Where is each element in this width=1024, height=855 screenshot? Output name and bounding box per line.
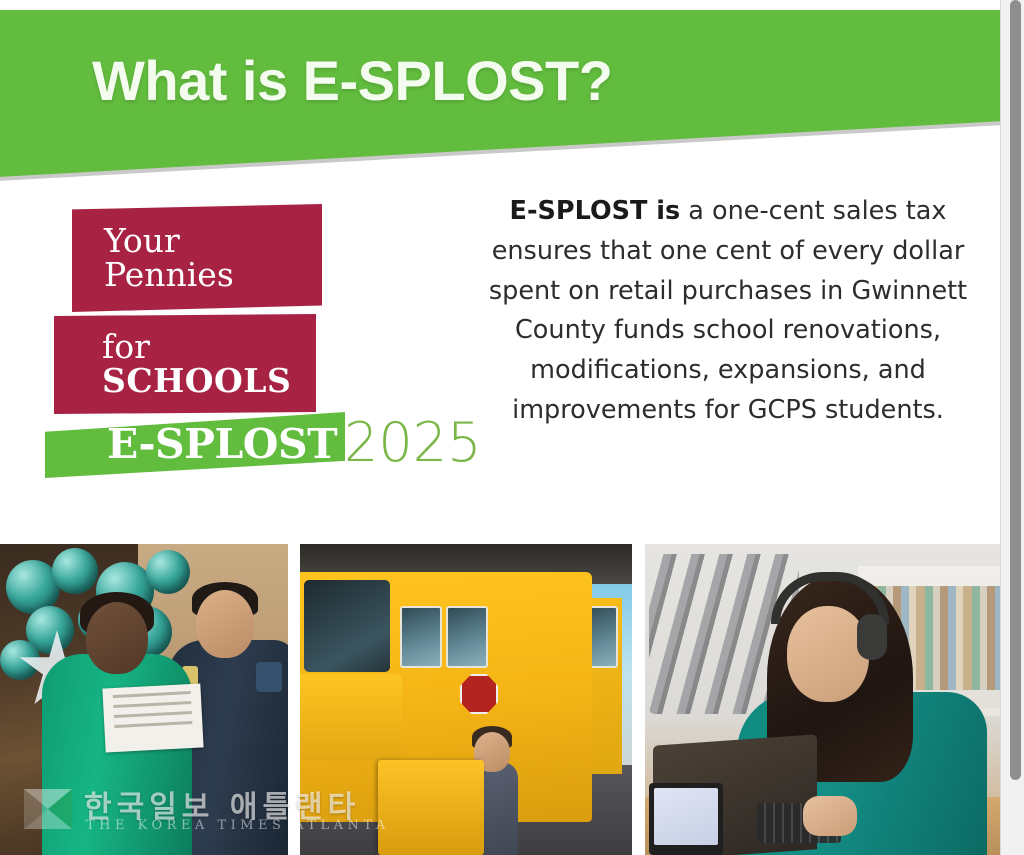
vertical-scrollbar-thumb[interactable] xyxy=(1010,0,1021,780)
screenshot-root: What is E-SPLOST? Your Pennies for SCHOO… xyxy=(0,0,1024,855)
bus-window xyxy=(400,606,442,668)
logo-year: 2025 xyxy=(344,416,481,470)
bus-window xyxy=(446,606,488,668)
logo-line-for: for xyxy=(102,330,316,364)
photo-school-bus xyxy=(300,544,632,855)
description-paragraph: E-SPLOST is a one-cent sales tax ensures… xyxy=(478,192,978,431)
esplost-logo: Your Pennies for SCHOOLS E-SPLOST 2025 xyxy=(44,198,484,488)
description-lead: E-SPLOST is xyxy=(510,196,681,226)
logo-banner-esplost: E-SPLOST xyxy=(45,412,345,478)
certificate xyxy=(102,683,203,752)
officer-shoulder-patch xyxy=(256,662,282,692)
description-rest: a one-cent sales tax ensures that one ce… xyxy=(489,196,967,425)
bus-hood xyxy=(300,674,402,760)
balloon xyxy=(52,548,98,594)
bus-windshield xyxy=(304,580,390,672)
photo-graduation xyxy=(0,544,288,855)
balloon xyxy=(146,550,190,594)
logo-banner-your-pennies: Your Pennies xyxy=(72,204,322,312)
stop-sign-icon xyxy=(460,674,498,714)
logo-line-esplost: E-SPLOST xyxy=(107,424,345,465)
headphone-earcup-icon xyxy=(857,614,887,660)
logo-line-schools: SCHOOLS xyxy=(102,364,316,398)
page-title: What is E-SPLOST? xyxy=(92,52,612,111)
bus-open-door-panel xyxy=(378,760,484,855)
logo-banner-for-schools: for SCHOOLS xyxy=(54,314,316,414)
logo-line-pennies: Pennies xyxy=(104,258,322,292)
police-officer-head xyxy=(196,590,254,658)
student-hand xyxy=(803,796,857,836)
logo-line-your: Your xyxy=(104,224,322,258)
document-canvas: What is E-SPLOST? Your Pennies for SCHOO… xyxy=(0,0,1013,855)
graduate-head xyxy=(86,602,148,674)
photo-student-laptop xyxy=(645,544,1013,855)
tablet-device xyxy=(649,783,723,855)
photo-strip xyxy=(0,544,1013,855)
